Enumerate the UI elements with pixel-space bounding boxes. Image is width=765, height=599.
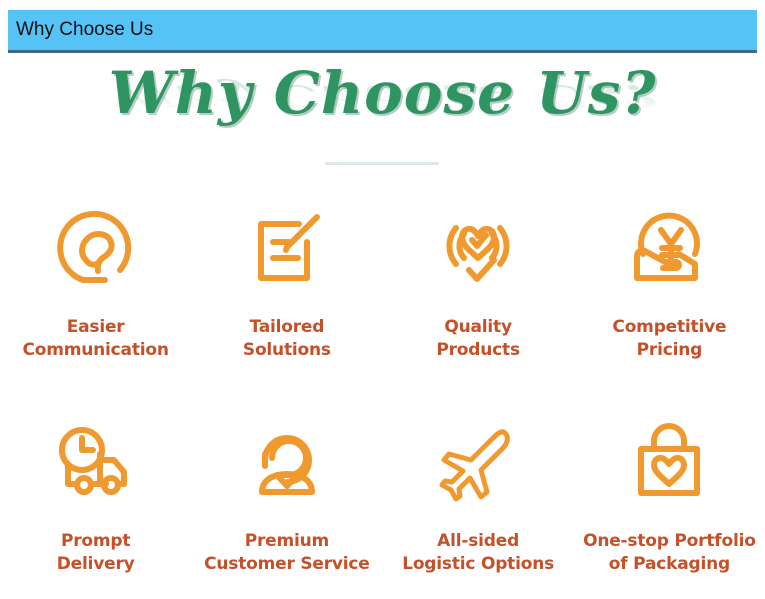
feature-item-one-stop-portfolio-of-packaging[interactable]: One-stop Portfolio of Packaging — [574, 410, 765, 576]
headset-agent-icon — [241, 410, 333, 514]
feature-item-competitive-pricing[interactable]: Competitive Pricing — [574, 196, 765, 362]
hero-banner: Why Choose Us? Why Choose Us? — [0, 58, 765, 173]
feature-label: Tailored Solutions — [243, 316, 331, 362]
feature-row-first: Easier Communication Tailored Solutions — [0, 196, 765, 362]
feature-label: Quality Products — [436, 316, 520, 362]
feature-label: Easier Communication — [22, 316, 168, 362]
window-title: Why Choose Us — [16, 17, 153, 43]
delivery-truck-clock-icon — [50, 410, 142, 514]
feature-item-tailored-solutions[interactable]: Tailored Solutions — [191, 196, 382, 362]
feature-item-easier-communication[interactable]: Easier Communication — [0, 196, 191, 362]
hero-title-wrap: Why Choose Us? Why Choose Us? — [0, 58, 765, 184]
airplane-icon — [432, 410, 524, 514]
feature-label: One-stop Portfolio of Packaging — [583, 530, 756, 576]
document-pen-icon — [241, 196, 333, 300]
feature-item-quality-products[interactable]: Quality Products — [383, 196, 574, 362]
page-title-reflection: Why Choose Us? — [0, 78, 765, 114]
feature-label: Premium Customer Service — [204, 530, 370, 576]
feature-label: All-sided Logistic Options — [402, 530, 554, 576]
feature-label: Competitive Pricing — [612, 316, 726, 362]
hero-divider — [325, 162, 439, 165]
feature-label: Prompt Delivery — [57, 530, 135, 576]
feature-item-all-sided-logistic-options[interactable]: All-sided Logistic Options — [383, 410, 574, 576]
heart-check-signal-icon — [432, 196, 524, 300]
feature-item-prompt-delivery[interactable]: Prompt Delivery — [0, 410, 191, 576]
window-header-bar: Why Choose Us — [8, 10, 757, 53]
feature-item-premium-customer-service[interactable]: Premium Customer Service — [191, 410, 382, 576]
shopping-bag-heart-icon — [623, 410, 715, 514]
ear-in-circle-icon — [50, 196, 142, 300]
feature-row-second: Prompt Delivery Premium Customer Service… — [0, 410, 765, 576]
hand-holding-yen-coin-icon — [623, 196, 715, 300]
